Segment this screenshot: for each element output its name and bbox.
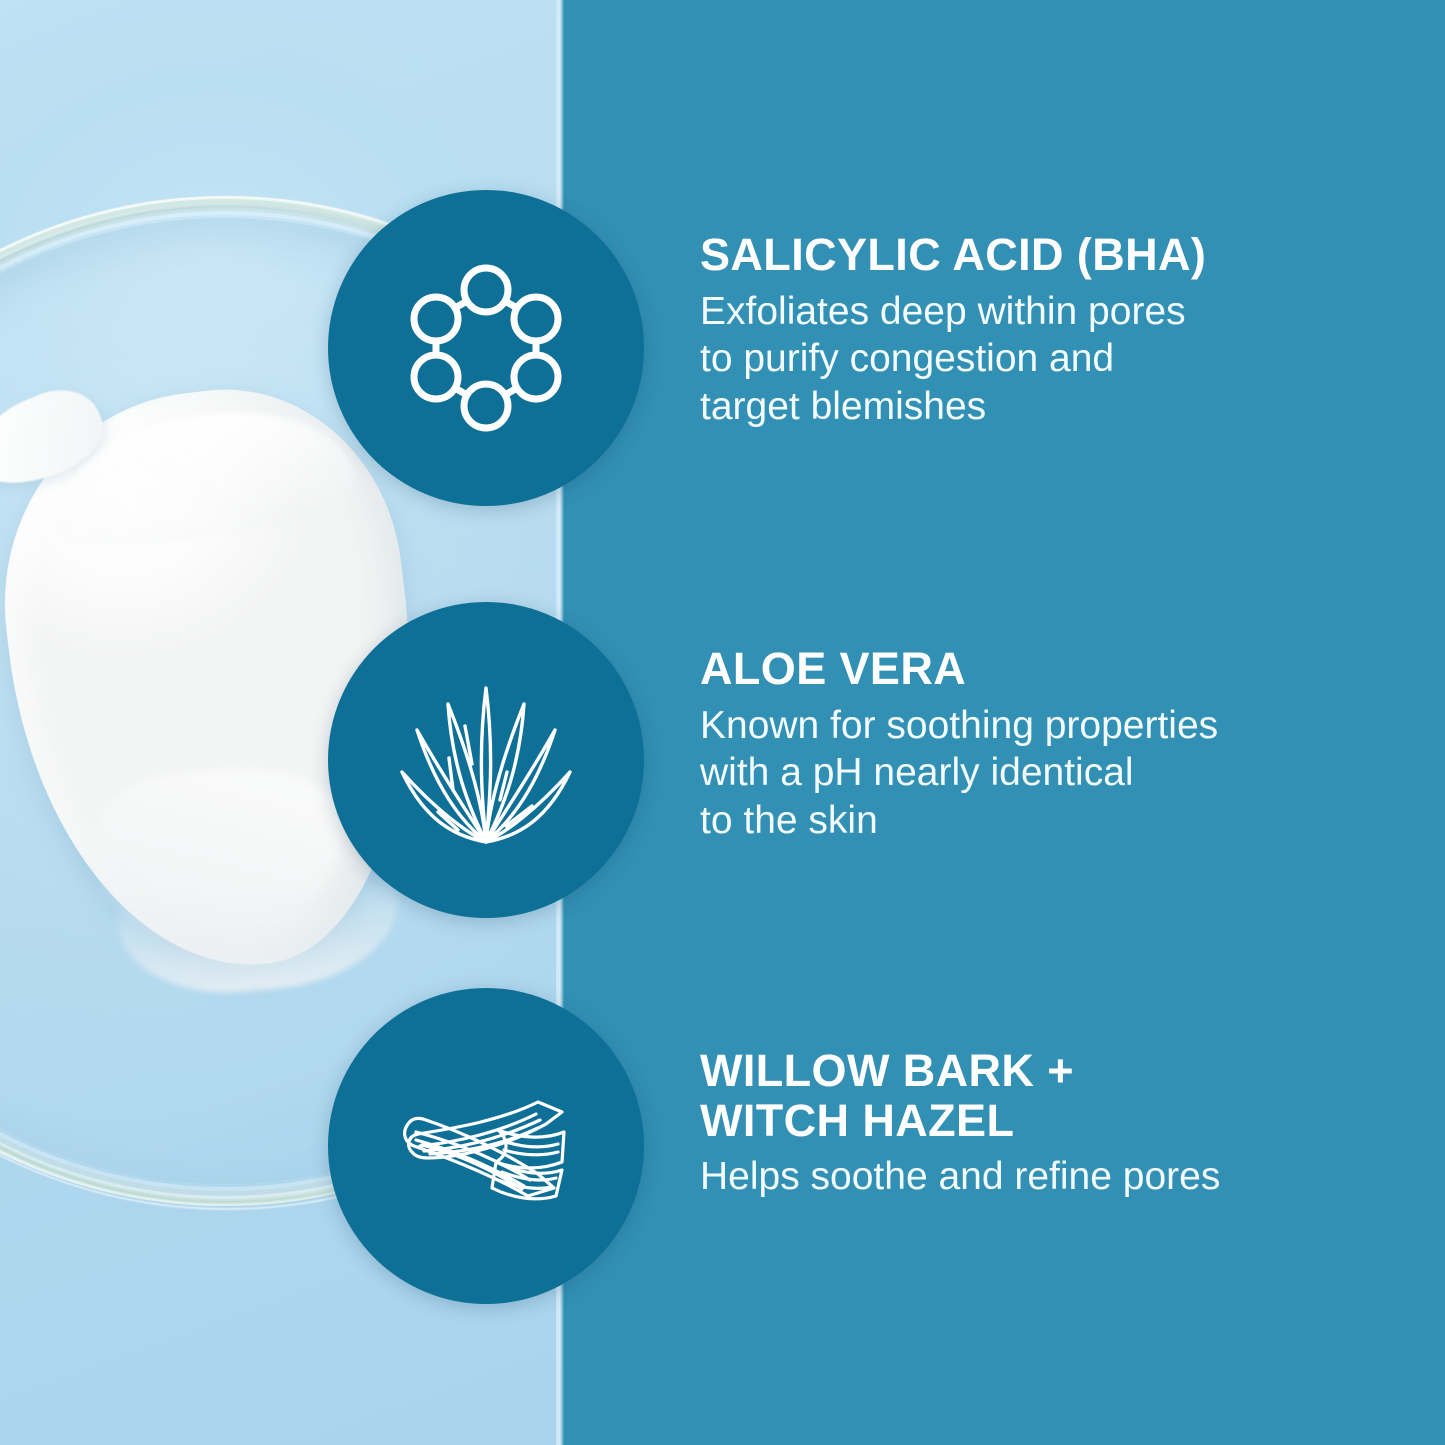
molecule-hexagon-icon <box>396 258 576 438</box>
ingredient-title: ALOE VERA <box>700 644 1390 694</box>
ingredient-infographic: SALICYLIC ACID (BHA) Exfoliates deep wit… <box>0 0 1445 1445</box>
willow-bark-icon <box>386 1046 586 1246</box>
ingredient-text-block: ALOE VERA Known for soothing properties … <box>700 644 1390 844</box>
ingredient-icon-badge <box>328 190 644 506</box>
ingredient-title: WILLOW BARK + WITCH HAZEL <box>700 1046 1390 1145</box>
ingredient-description: Exfoliates deep within pores to purify c… <box>700 288 1390 431</box>
ingredient-icon-badge <box>328 602 644 918</box>
ingredient-description: Known for soothing properties with a pH … <box>700 702 1390 845</box>
ingredient-text-block: SALICYLIC ACID (BHA) Exfoliates deep wit… <box>700 230 1390 430</box>
ingredient-description: Helps soothe and refine pores <box>700 1153 1390 1201</box>
aloe-vera-plant-icon <box>386 660 586 860</box>
ingredient-text-block: WILLOW BARK + WITCH HAZEL Helps soothe a… <box>700 1046 1390 1201</box>
ingredient-icon-badge <box>328 988 644 1304</box>
ingredient-title: SALICYLIC ACID (BHA) <box>700 230 1390 280</box>
